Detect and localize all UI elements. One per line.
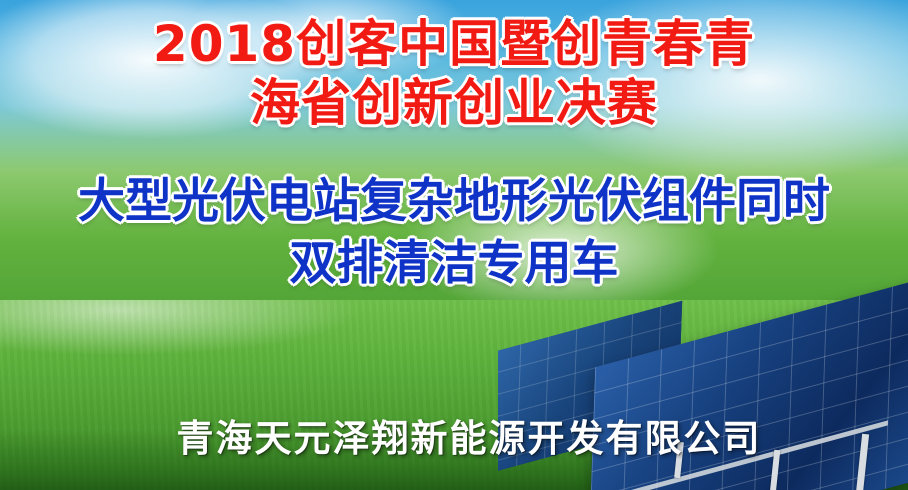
main-title: 2018创客中国暨创青春青 海省创新创业决赛 xyxy=(0,18,908,130)
title-line-2: 海省创新创业决赛 xyxy=(0,77,908,130)
title-line-1: 2018创客中国暨创青春青 xyxy=(0,18,908,71)
project-subtitle: 大型光伏电站复杂地形光伏组件同时 双排清洁专用车 xyxy=(0,176,908,289)
subtitle-line-1: 大型光伏电站复杂地形光伏组件同时 xyxy=(0,176,908,228)
company-name: 青海天元泽翔新能源开发有限公司 xyxy=(147,408,762,462)
subtitle-line-2: 双排清洁专用车 xyxy=(0,238,908,290)
presentation-slide: 2018创客中国暨创青春青 海省创新创业决赛 大型光伏电站复杂地形光伏组件同时 … xyxy=(0,0,908,490)
company-name-block: 青海天元泽翔新能源开发有限公司 xyxy=(0,408,908,462)
